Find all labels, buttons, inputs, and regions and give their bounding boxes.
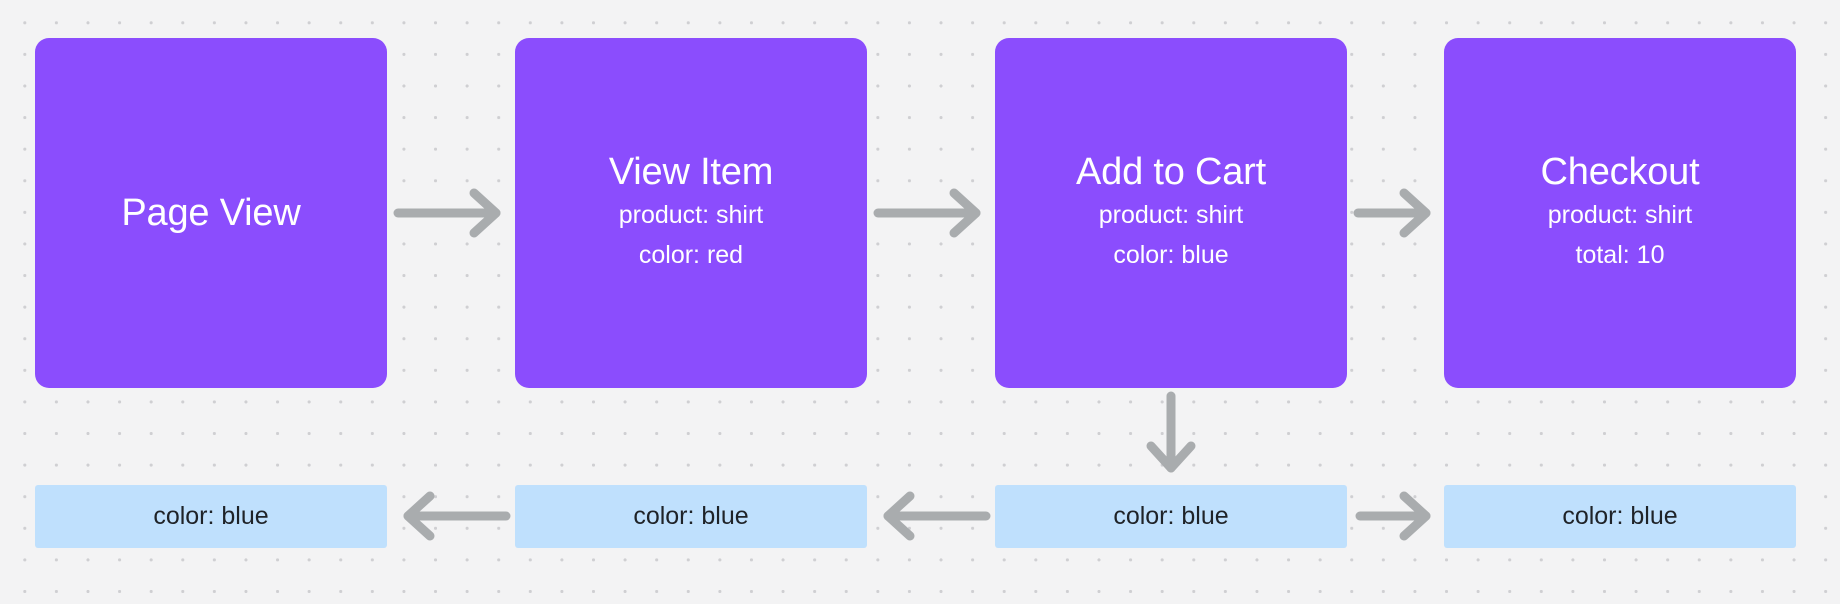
property-node-1[interactable]: color: blue bbox=[35, 485, 387, 548]
event-node-properties: product: shirt total: 10 bbox=[1548, 195, 1693, 276]
event-node-add-to-cart[interactable]: Add to Cart product: shirt color: blue bbox=[995, 38, 1347, 388]
event-node-property: color: blue bbox=[1113, 235, 1228, 276]
event-node-property: color: red bbox=[639, 235, 743, 276]
event-node-title: Page View bbox=[121, 191, 300, 236]
event-node-property: product: shirt bbox=[1548, 195, 1693, 236]
event-node-properties: product: shirt color: blue bbox=[1099, 195, 1244, 276]
arrow-down-icon bbox=[1148, 394, 1194, 480]
event-node-property: product: shirt bbox=[1099, 195, 1244, 236]
event-node-title: Checkout bbox=[1541, 150, 1700, 195]
arrow-right-icon bbox=[1356, 190, 1438, 236]
event-node-checkout[interactable]: Checkout product: shirt total: 10 bbox=[1444, 38, 1796, 388]
arrow-left-icon bbox=[396, 493, 508, 539]
arrow-right-icon bbox=[1358, 493, 1438, 539]
property-node-2[interactable]: color: blue bbox=[515, 485, 867, 548]
property-node-3[interactable]: color: blue bbox=[995, 485, 1347, 548]
arrow-right-icon bbox=[396, 190, 508, 236]
property-node-label: color: blue bbox=[633, 504, 748, 529]
event-node-property: product: shirt bbox=[619, 195, 764, 236]
property-node-label: color: blue bbox=[153, 504, 268, 529]
property-node-label: color: blue bbox=[1113, 504, 1228, 529]
arrow-left-icon bbox=[876, 493, 988, 539]
event-node-page-view[interactable]: Page View bbox=[35, 38, 387, 388]
arrow-right-icon bbox=[876, 190, 988, 236]
property-node-4[interactable]: color: blue bbox=[1444, 485, 1796, 548]
event-node-title: View Item bbox=[609, 150, 773, 195]
event-node-property: total: 10 bbox=[1576, 235, 1665, 276]
property-node-label: color: blue bbox=[1562, 504, 1677, 529]
event-node-title: Add to Cart bbox=[1076, 150, 1266, 195]
event-node-view-item[interactable]: View Item product: shirt color: red bbox=[515, 38, 867, 388]
event-node-properties: product: shirt color: red bbox=[619, 195, 764, 276]
flow-diagram-canvas[interactable]: Page View View Item product: shirt color… bbox=[0, 0, 1840, 604]
